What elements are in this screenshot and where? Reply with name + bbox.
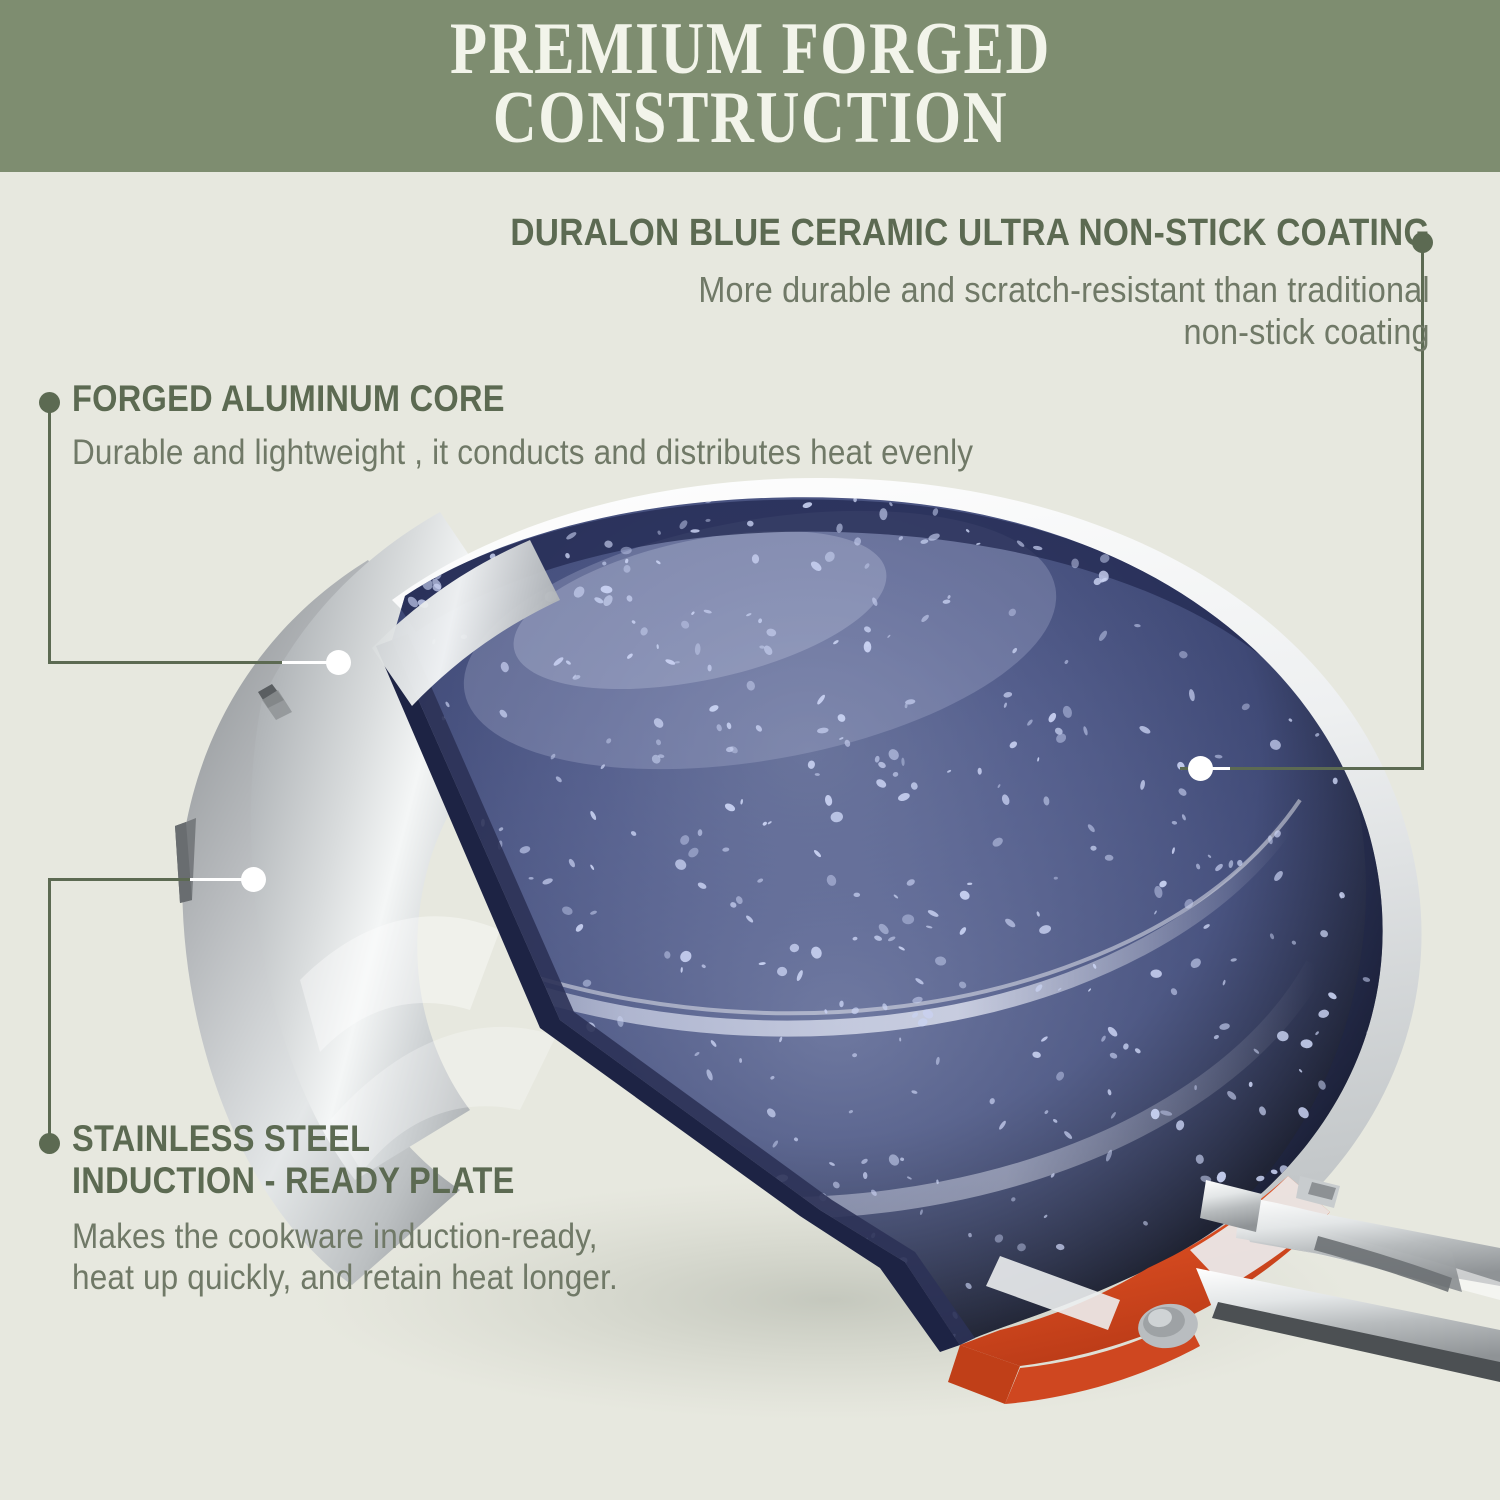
callout-coating-heading: DURALON BLUE CERAMIC ULTRA NON-STICK COA… [511,212,1430,255]
callout-coating-body: More durable and scratch-resistant than … [490,269,1430,354]
callout-coating: DURALON BLUE CERAMIC ULTRA NON-STICK COA… [385,212,1430,354]
callout-plate-heading: STAINLESS STEEL INDUCTION - READY PLATE [72,1118,606,1202]
callout-plate: STAINLESS STEEL INDUCTION - READY PLATE … [72,1118,679,1298]
callout-core-heading: FORGED ALUMINUM CORE [72,378,953,420]
callout-plate-body: Makes the cookware induction-ready, heat… [72,1216,618,1299]
callout-core-body: Durable and lightweight , it conducts an… [72,432,973,473]
callout-core: FORGED ALUMINUM CORE Durable and lightwe… [72,378,1073,473]
